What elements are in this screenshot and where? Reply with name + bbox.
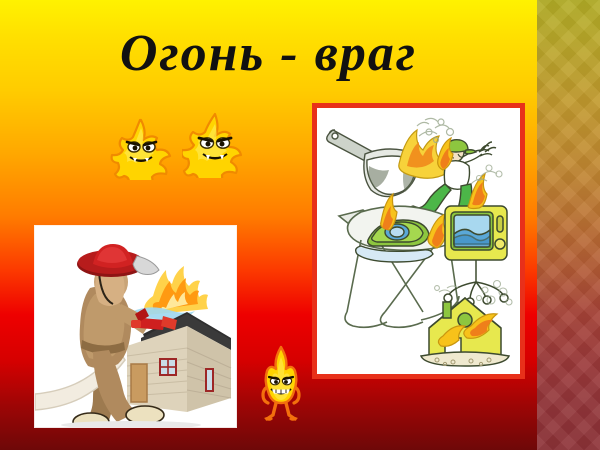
flame-character-angry-left: [110, 118, 172, 180]
slide-canvas: Огонь - враг: [0, 0, 600, 450]
image-household-fire-hazards[interactable]: [312, 103, 525, 379]
household-hazards-svg: [321, 112, 516, 370]
image-inner-mat: [321, 112, 516, 370]
page-title: Огонь - враг: [0, 24, 537, 83]
flame-character-angry-right: [182, 112, 244, 178]
diamond-pattern-overlay: [537, 0, 600, 450]
decorative-diamond-pattern-strip: [537, 0, 600, 450]
firefighter-scene-svg: [35, 226, 236, 427]
flame-character-grinning-bottom: [259, 345, 303, 423]
image-firefighter-extinguishing-house[interactable]: [35, 226, 236, 427]
